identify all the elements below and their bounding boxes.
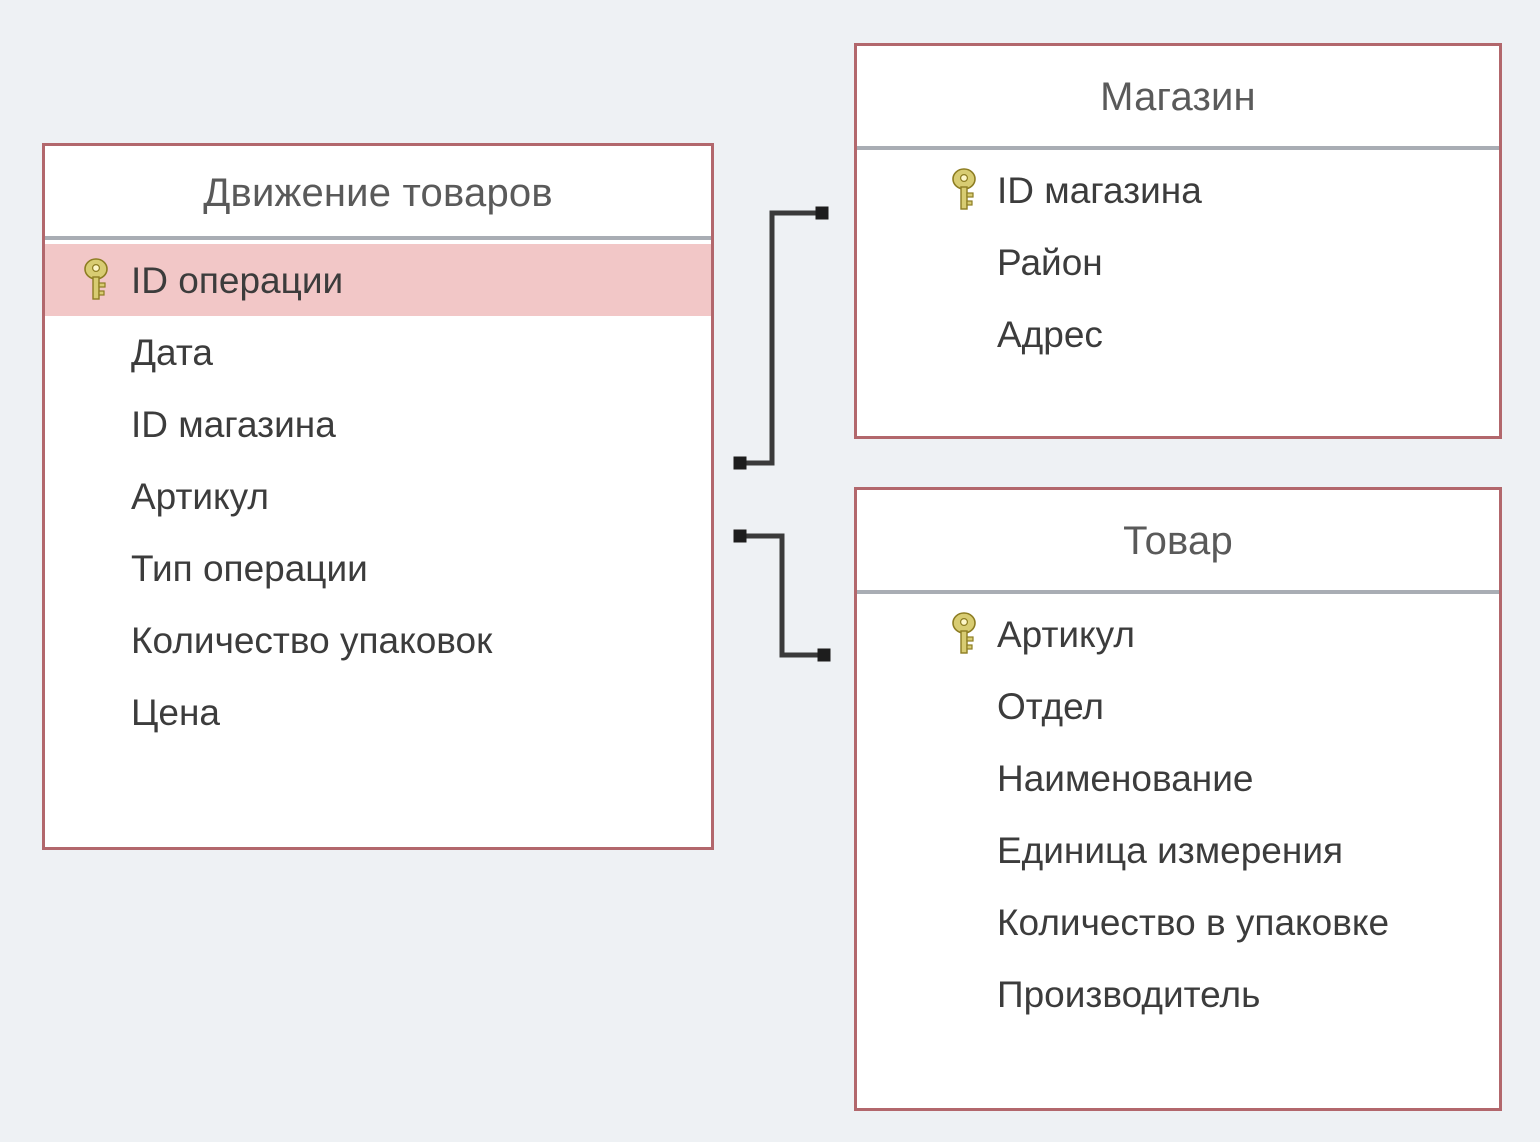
field-row[interactable]: Отдел — [857, 670, 1499, 742]
field-label: ID магазина — [997, 172, 1202, 209]
entity-title: Товар — [857, 490, 1499, 590]
field-row[interactable]: Артикул — [45, 460, 711, 532]
field-label: Адрес — [997, 316, 1103, 353]
relationship-endpoint-start — [734, 530, 747, 543]
field-label: Цена — [131, 694, 220, 731]
key-icon — [949, 168, 979, 212]
field-label: Район — [997, 244, 1103, 281]
entity-tovar[interactable]: Товар Артикул Отдел Наи — [854, 487, 1502, 1111]
field-row[interactable]: Адрес — [857, 298, 1499, 370]
entity-title: Движение товаров — [45, 146, 711, 236]
field-row[interactable]: Количество упаковок — [45, 604, 711, 676]
field-row[interactable]: Наименование — [857, 742, 1499, 814]
field-row[interactable]: Количество в упаковке — [857, 886, 1499, 958]
relationship-endpoint-end — [816, 207, 829, 220]
field-row-primary-key[interactable]: ID операции — [45, 244, 711, 316]
field-row[interactable]: Производитель — [857, 958, 1499, 1030]
field-row[interactable]: Тип операции — [45, 532, 711, 604]
entity-title: Магазин — [857, 46, 1499, 146]
diagram-canvas: Движение товаров ID операции Дата — [0, 0, 1540, 1142]
field-label: Артикул — [131, 478, 269, 515]
field-row[interactable]: ID магазина — [45, 388, 711, 460]
relationship-endpoint-start — [734, 457, 747, 470]
field-label: Количество в упаковке — [997, 904, 1389, 941]
relationship-line-tovar[interactable] — [740, 536, 824, 655]
field-label: Отдел — [997, 688, 1104, 725]
field-label: Производитель — [997, 976, 1260, 1013]
field-label: Единица измерения — [997, 832, 1343, 869]
field-row-primary-key[interactable]: ID магазина — [857, 154, 1499, 226]
field-row[interactable]: Район — [857, 226, 1499, 298]
key-icon — [81, 258, 111, 302]
field-label: ID магазина — [131, 406, 336, 443]
field-label: Дата — [131, 334, 213, 371]
entity-field-list: ID магазина Район Адрес — [857, 150, 1499, 436]
key-icon — [949, 612, 979, 656]
relationship-line-magazin[interactable] — [740, 213, 822, 463]
field-label: Наименование — [997, 760, 1254, 797]
entity-magazin[interactable]: Магазин ID магазина Район — [854, 43, 1502, 439]
entity-dvizhenie-tovarov[interactable]: Движение товаров ID операции Дата — [42, 143, 714, 850]
field-label: Артикул — [997, 616, 1135, 653]
field-label: Тип операции — [131, 550, 368, 587]
entity-field-list: ID операции Дата ID магазина Артикул Тип… — [45, 240, 711, 847]
field-row-primary-key[interactable]: Артикул — [857, 598, 1499, 670]
field-label: ID операции — [131, 262, 343, 299]
field-label: Количество упаковок — [131, 622, 492, 659]
field-row[interactable]: Дата — [45, 316, 711, 388]
entity-field-list: Артикул Отдел Наименование Единица измер… — [857, 594, 1499, 1108]
field-row[interactable]: Цена — [45, 676, 711, 748]
field-row[interactable]: Единица измерения — [857, 814, 1499, 886]
relationship-endpoint-end — [818, 649, 831, 662]
